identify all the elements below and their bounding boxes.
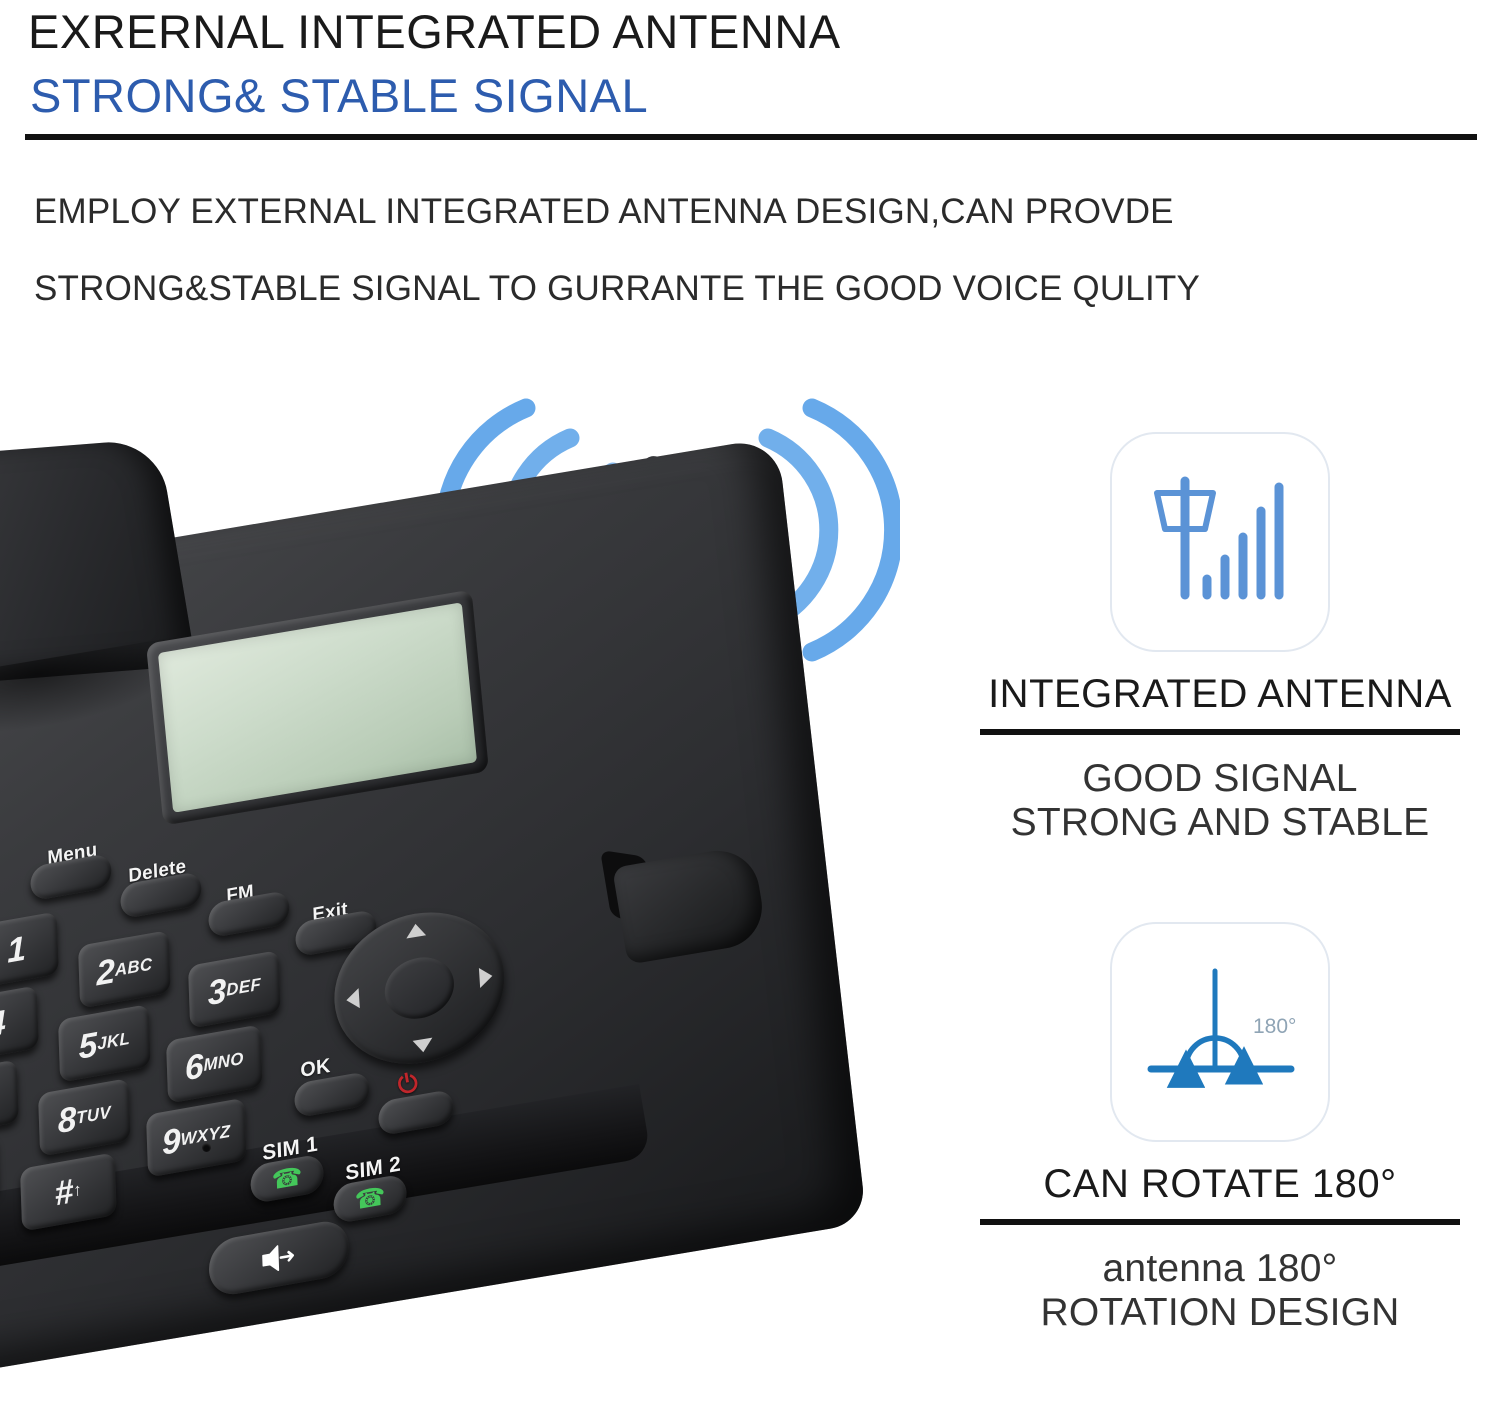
subtitle-line-1: EMPLOY EXTERNAL INTEGRATED ANTENNA DESIG… <box>34 192 1174 232</box>
key-2-letters: ABC <box>115 954 153 981</box>
key-2-digit: 2 <box>96 951 116 994</box>
key-1-digit: 1 <box>6 929 26 972</box>
phone-handset-icon: ☎ <box>271 1163 303 1194</box>
feature-2-caption: antenna 180° ROTATION DESIGN <box>960 1247 1480 1334</box>
key-hash-digit: # <box>54 1171 74 1214</box>
key-3-digit: 3 <box>207 971 227 1014</box>
key-6-digit: 6 <box>184 1046 204 1089</box>
dpad-down-icon[interactable] <box>413 1038 434 1054</box>
feature-2-title: CAN ROTATE 180° <box>960 1162 1480 1207</box>
feature-1-caption-line-1: GOOD SIGNAL <box>1082 757 1357 800</box>
key-hash-arrow: ↑ <box>73 1179 82 1201</box>
feature-1-divider <box>980 729 1460 735</box>
feature-1-title: INTEGRATED ANTENNA <box>960 672 1480 717</box>
feature-2-divider <box>980 1219 1460 1225</box>
page-title-line-1: EXRERNAL INTEGRATED ANTENNA <box>28 4 841 59</box>
feature-2-icon-label: 180° <box>1253 1015 1296 1038</box>
microphone-hole <box>202 1143 211 1152</box>
feature-2-icon-tile: 180° <box>1110 922 1330 1142</box>
key-3-letters: DEF <box>226 975 261 1001</box>
dpad-left-icon[interactable] <box>346 988 360 1010</box>
feature-1-caption: GOOD SIGNAL STRONG AND STABLE <box>960 757 1480 844</box>
product-feature-page: EXRERNAL INTEGRATED ANTENNA STRONG& STAB… <box>0 0 1500 1423</box>
speaker-icon <box>260 1239 298 1276</box>
dpad-up-icon[interactable] <box>406 922 427 938</box>
key-5-digit: 5 <box>78 1025 98 1068</box>
rotation-180-degree-icon: 180° <box>1143 957 1298 1107</box>
dpad-right-icon[interactable] <box>479 966 493 988</box>
dpad[interactable] <box>330 900 509 1077</box>
feature-1-icon-tile <box>1110 432 1330 652</box>
header-divider <box>25 134 1477 140</box>
key-8-letters: TUV <box>76 1103 111 1129</box>
feature-rotate-180: 180° CAN ROTATE 180° antenna 180° ROTATI… <box>960 922 1480 1334</box>
subtitle-line-2: STRONG&STABLE SIGNAL TO GURRANTE THE GOO… <box>34 269 1200 309</box>
feature-2-caption-line-1: antenna 180° <box>1103 1247 1338 1290</box>
key-6-letters: MNO <box>203 1049 244 1076</box>
key-9-digit: 9 <box>161 1121 181 1164</box>
key-5-letters: JKL <box>97 1029 131 1055</box>
feature-integrated-antenna: INTEGRATED ANTENNA GOOD SIGNAL STRONG AN… <box>960 432 1480 844</box>
key-8-digit: 8 <box>57 1099 77 1142</box>
page-title-line-2: STRONG& STABLE SIGNAL <box>30 68 648 123</box>
phone-handset-icon: ☎ <box>354 1183 386 1214</box>
cell-tower-signal-bars-icon <box>1145 467 1295 617</box>
key-4-digit: 4 <box>0 1003 6 1046</box>
feature-2-caption-line-2: ROTATION DESIGN <box>960 1291 1480 1335</box>
feature-1-caption-line-2: STRONG AND STABLE <box>960 801 1480 845</box>
product-photo: Menu Delete FM Exit 1 2ABC 3DEF 4 5JKL 6… <box>0 380 1000 1423</box>
